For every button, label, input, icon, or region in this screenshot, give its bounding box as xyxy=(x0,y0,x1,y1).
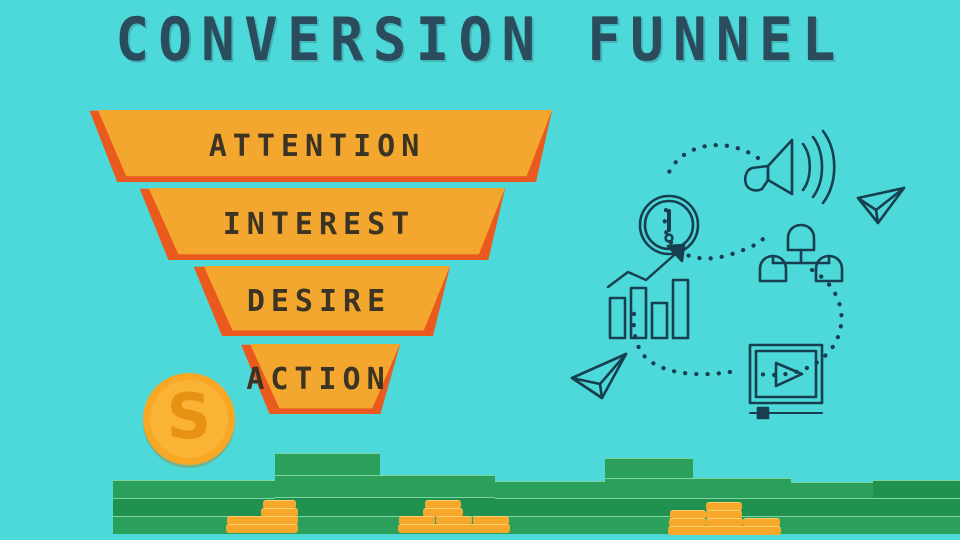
banknote-stack xyxy=(195,480,275,498)
funnel-stage-interest[interactable]: INTEREST xyxy=(133,188,505,260)
banknote-stack xyxy=(380,475,495,497)
banknote-stack xyxy=(113,516,195,534)
banknote-stack xyxy=(495,498,605,516)
funnel-stage-label: DESIRE xyxy=(188,284,450,319)
illustration-canvas: CONVERSION FUNNEL ATTENTION INTEREST DES… xyxy=(0,0,960,540)
banknote-stack xyxy=(275,475,380,497)
banknote-stack xyxy=(495,516,605,534)
banknote-stack xyxy=(791,482,873,498)
banknote-stack xyxy=(605,478,693,498)
money-stacks xyxy=(0,440,960,540)
people-network-icon xyxy=(760,225,842,281)
funnel-stage-desire[interactable]: DESIRE xyxy=(188,266,450,336)
banknote-stack xyxy=(873,498,960,516)
coin-stack xyxy=(668,526,781,535)
bar-chart-growth-icon xyxy=(608,245,688,338)
banknote-stack xyxy=(495,481,605,498)
banknote-stack xyxy=(113,498,195,516)
megaphone-icon xyxy=(745,131,834,203)
conversion-funnel: ATTENTION INTEREST DESIRE ACTION xyxy=(0,0,580,440)
funnel-stage-label: ACTION xyxy=(237,362,400,397)
banknote-stack xyxy=(275,453,380,475)
funnel-stage-label: ATTENTION xyxy=(82,129,552,164)
coin-stack xyxy=(226,524,298,533)
funnel-stage-attention[interactable]: ATTENTION xyxy=(82,110,552,182)
marketing-icon-cluster xyxy=(560,110,960,420)
video-player-icon xyxy=(750,345,822,418)
banknote-stack xyxy=(873,516,960,534)
funnel-stage-label: INTEREST xyxy=(133,207,505,242)
banknote-stack xyxy=(873,480,960,498)
coin-stack xyxy=(398,524,510,533)
banknote-stack xyxy=(605,458,693,478)
banknote-stack xyxy=(791,498,873,516)
banknote-stack xyxy=(693,478,791,498)
paper-plane-icon xyxy=(858,188,904,223)
banknote-stack xyxy=(791,516,873,534)
paper-plane-icon xyxy=(572,354,626,398)
dotted-path xyxy=(634,145,842,375)
banknote-stack xyxy=(113,480,195,498)
funnel-stage-action[interactable]: ACTION xyxy=(237,344,400,414)
